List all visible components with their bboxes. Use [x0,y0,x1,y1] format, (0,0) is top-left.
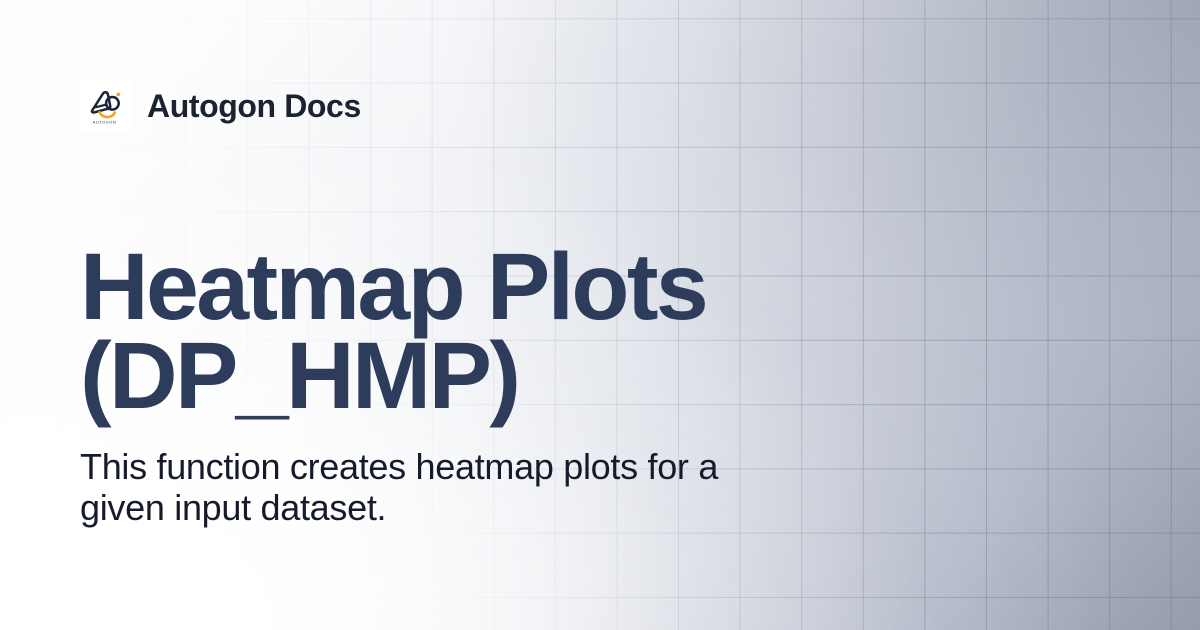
logo-a-bar [96,105,106,108]
logo-smile [100,112,115,117]
autogon-logo-icon: AUTOGON [84,85,125,126]
logo-a-shape [92,92,110,112]
brand-logo-card: AUTOGON [79,80,130,131]
hero-text-block: Heatmap Plots (DP_HMP) This function cre… [80,243,860,528]
brand-header[interactable]: AUTOGON Autogon Docs [79,80,361,131]
page-title: Heatmap Plots (DP_HMP) [80,243,860,421]
og-card: AUTOGON Autogon Docs Heatmap Plots (DP_H… [0,0,1200,630]
brand-name: Autogon Docs [147,90,361,122]
logo-o-circle [106,97,119,110]
page-subtitle: This function creates heatmap plots for … [80,421,800,528]
logo-accent-dot [116,93,120,97]
logo-wordmark: AUTOGON [93,119,116,124]
